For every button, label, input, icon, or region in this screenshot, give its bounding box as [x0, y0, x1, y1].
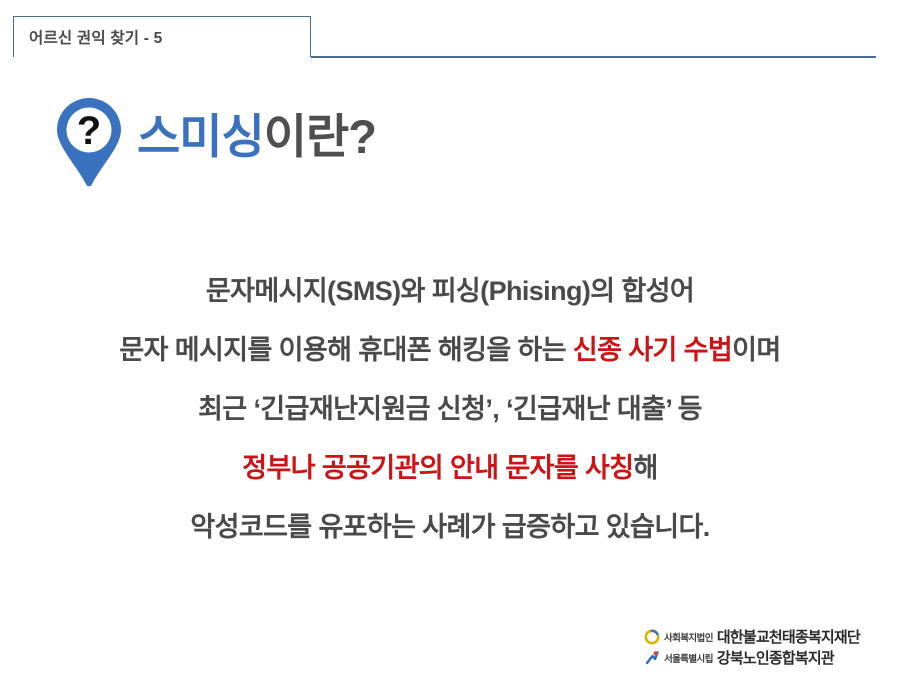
body-plain-text: 최근 ‘긴급재난지원금 신청’, ‘긴급재난 대출’ 등 — [198, 394, 702, 424]
body-line: 정부나 공공기관의 안내 문자를 사칭해 — [0, 455, 900, 482]
header-tab[interactable]: 어르신 권익 찾기 - 5 — [13, 16, 311, 57]
slide-footer: 사회복지법인대한불교천태종복지재단서울특별시립강북노인종합복지관 — [644, 626, 894, 668]
slide-title-accent: 스미싱 — [137, 110, 264, 163]
body-plain-text: 악성코드를 유포하는 사례가 급증하고 있습니다. — [190, 512, 709, 542]
body-highlight-text: 신종 사기 수법 — [573, 335, 732, 365]
body-plain-text: 문자 메시지를 이용해 휴대폰 해킹을 하는 — [119, 335, 573, 365]
header-tab-label: 어르신 권익 찾기 - 5 — [14, 26, 162, 48]
question-pin-icon: ? — [55, 96, 123, 188]
body-plain-text: 해 — [633, 453, 657, 483]
footer-logo-row: 사회복지법인대한불교천태종복지재단 — [644, 626, 894, 647]
slide-body: 문자메시지(SMS)와 피싱(Phising)의 합성어문자 메시지를 이용해 … — [0, 278, 900, 541]
person-figure-logo-icon — [644, 650, 660, 666]
body-plain-text: 문자메시지(SMS)와 피싱(Phising)의 합성어 — [206, 276, 694, 306]
header-divider-line — [311, 56, 876, 58]
footer-org-prefix: 사회복지법인 — [664, 630, 713, 644]
body-line: 문자메시지(SMS)와 피싱(Phising)의 합성어 — [0, 278, 900, 305]
ring-circle-logo-icon — [644, 629, 660, 645]
body-line: 악성코드를 유포하는 사례가 급증하고 있습니다. — [0, 514, 900, 541]
slide-title-rest: 이란? — [264, 110, 376, 163]
svg-text:?: ? — [77, 109, 101, 153]
slide-header: 어르신 권익 찾기 - 5 — [0, 0, 900, 70]
body-line: 최근 ‘긴급재난지원금 신청’, ‘긴급재난 대출’ 등 — [0, 396, 900, 423]
body-line: 문자 메시지를 이용해 휴대폰 해킹을 하는 신종 사기 수법이며 — [0, 337, 900, 364]
body-highlight-text: 정부나 공공기관의 안내 문자를 사칭 — [242, 453, 633, 483]
body-plain-text: 이며 — [732, 335, 780, 365]
footer-logo-row: 서울특별시립강북노인종합복지관 — [644, 647, 894, 668]
footer-org-name: 대한불교천태종복지재단 — [717, 626, 860, 647]
slide-title: ? 스미싱이란? — [55, 96, 376, 188]
footer-org-name: 강북노인종합복지관 — [717, 647, 834, 668]
footer-org-prefix: 서울특별시립 — [664, 651, 713, 665]
slide-title-text: 스미싱이란? — [137, 113, 376, 160]
